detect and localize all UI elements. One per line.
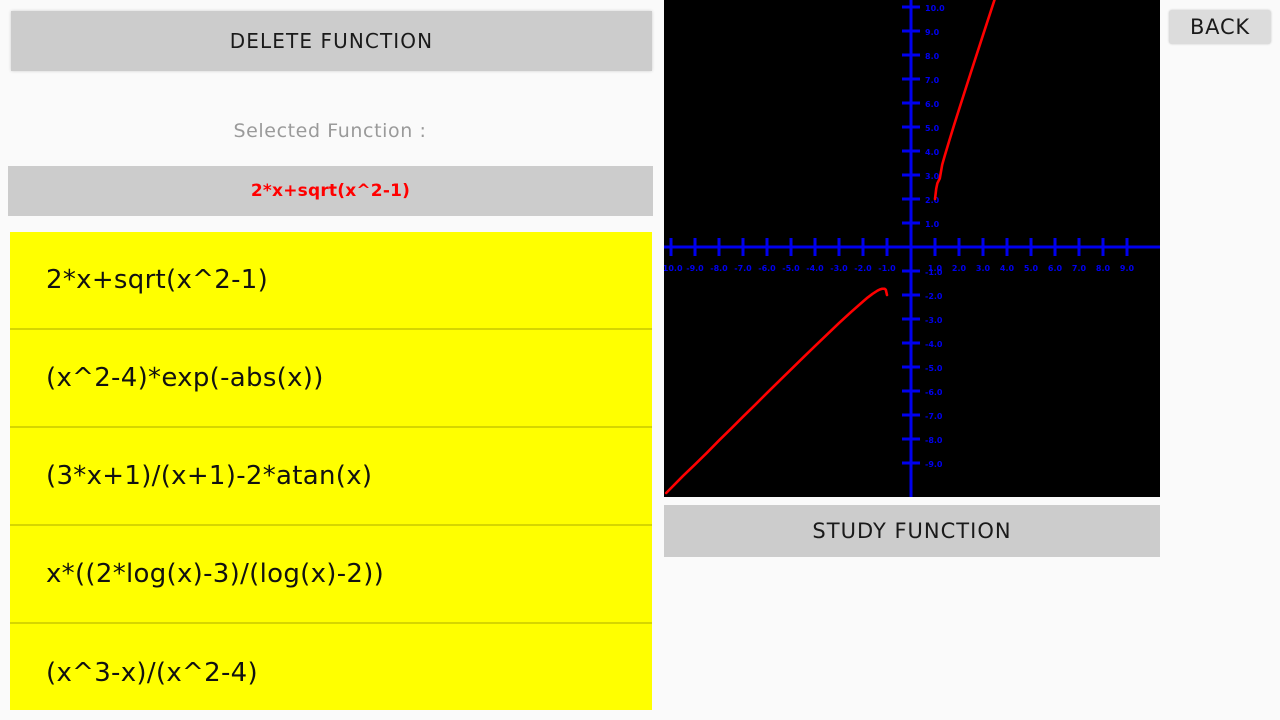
study-function-button[interactable]: STUDY FUNCTION <box>664 505 1160 557</box>
back-button[interactable]: BACK <box>1169 10 1271 44</box>
function-expression: 2*x+sqrt(x^2-1) <box>46 265 268 295</box>
function-expression: (x^2-4)*exp(-abs(x)) <box>46 363 324 393</box>
function-plot-svg: -10.0-9.0-8.0-7.0-6.0-5.0-4.0-3.0-2.0-1.… <box>664 0 1160 497</box>
x-axis-tick-label: 2.0 <box>952 264 967 273</box>
function-list[interactable]: 2*x+sqrt(x^2-1)(x^2-4)*exp(-abs(x))(3*x+… <box>10 232 652 710</box>
x-axis-tick-label: 5.0 <box>1024 264 1039 273</box>
x-axis-tick-label: 3.0 <box>976 264 991 273</box>
x-axis-tick-label: 8.0 <box>1096 264 1111 273</box>
y-axis-tick-label: -5.0 <box>925 364 943 373</box>
function-list-panel: DELETE FUNCTION Selected Function : 2*x+… <box>0 0 660 720</box>
list-item[interactable]: x*((2*log(x)-3)/(log(x)-2)) <box>10 526 652 624</box>
x-axis-tick-label: -2.0 <box>854 264 872 273</box>
y-axis-tick-label: 8.0 <box>925 52 940 61</box>
y-axis-tick-label: -1.0 <box>925 268 943 277</box>
y-axis-tick-label: 9.0 <box>925 28 940 37</box>
x-axis-tick-label: -5.0 <box>782 264 800 273</box>
x-axis-tick-label: 4.0 <box>1000 264 1015 273</box>
y-axis-tick-label: -3.0 <box>925 316 943 325</box>
x-axis-tick-label: 7.0 <box>1072 264 1087 273</box>
x-axis-tick-label: -6.0 <box>758 264 776 273</box>
x-axis-tick-label: -4.0 <box>806 264 824 273</box>
y-axis-tick-label: -7.0 <box>925 412 943 421</box>
app-root: DELETE FUNCTION Selected Function : 2*x+… <box>0 0 1280 720</box>
y-axis-tick-label: 4.0 <box>925 148 940 157</box>
list-item[interactable]: 2*x+sqrt(x^2-1) <box>10 232 652 330</box>
graph-plot-area[interactable]: -10.0-9.0-8.0-7.0-6.0-5.0-4.0-3.0-2.0-1.… <box>664 0 1160 497</box>
function-expression: (3*x+1)/(x+1)-2*atan(x) <box>46 461 372 491</box>
selected-function-bar: 2*x+sqrt(x^2-1) <box>8 166 653 216</box>
function-expression: (x^3-x)/(x^2-4) <box>46 658 258 688</box>
y-axis-tick-label: -8.0 <box>925 436 943 445</box>
study-function-label: STUDY FUNCTION <box>812 519 1011 543</box>
y-axis-tick-label: -4.0 <box>925 340 943 349</box>
y-axis-tick-label: 10.0 <box>925 4 945 13</box>
y-axis-tick-label: 5.0 <box>925 124 940 133</box>
y-axis-tick-label: 3.0 <box>925 172 940 181</box>
x-axis-tick-label: 9.0 <box>1120 264 1135 273</box>
delete-function-button[interactable]: DELETE FUNCTION <box>11 11 652 71</box>
function-curve <box>666 289 887 493</box>
back-button-label: BACK <box>1190 15 1250 39</box>
x-axis-tick-label: -8.0 <box>710 264 728 273</box>
y-axis-tick-label: -6.0 <box>925 388 943 397</box>
y-axis-tick-label: 1.0 <box>925 220 940 229</box>
y-axis-tick-label: 6.0 <box>925 100 940 109</box>
x-axis-tick-label: -10.0 <box>664 264 683 273</box>
x-axis-tick-label: -7.0 <box>734 264 752 273</box>
delete-function-label: DELETE FUNCTION <box>230 29 433 53</box>
x-axis-tick-label: -3.0 <box>830 264 848 273</box>
x-axis-tick-label: 6.0 <box>1048 264 1063 273</box>
function-expression: x*((2*log(x)-3)/(log(x)-2)) <box>46 559 384 589</box>
function-curve <box>935 0 1012 199</box>
list-item[interactable]: (3*x+1)/(x+1)-2*atan(x) <box>10 428 652 526</box>
y-axis-tick-label: -2.0 <box>925 292 943 301</box>
x-axis-tick-label: -9.0 <box>686 264 704 273</box>
selected-function-caption: Selected Function : <box>0 120 660 142</box>
x-axis-tick-label: -1.0 <box>878 264 896 273</box>
list-item[interactable]: (x^2-4)*exp(-abs(x)) <box>10 330 652 428</box>
list-item[interactable]: (x^3-x)/(x^2-4) <box>10 624 652 710</box>
y-axis-tick-label: 2.0 <box>925 196 940 205</box>
y-axis-tick-label: -9.0 <box>925 460 943 469</box>
selected-function-expression: 2*x+sqrt(x^2-1) <box>251 181 410 201</box>
y-axis-tick-label: 7.0 <box>925 76 940 85</box>
